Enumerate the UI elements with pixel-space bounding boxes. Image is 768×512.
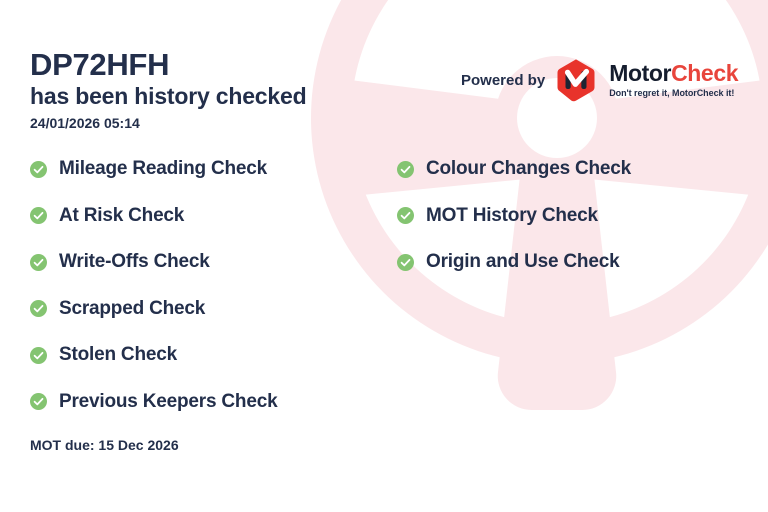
powered-by-lockup: Powered by MotorCheck Don't regret it, M…	[461, 58, 738, 102]
motorcheck-hexagon-m-check-icon	[555, 58, 597, 102]
green-check-circle-icon	[30, 300, 47, 317]
green-check-circle-icon	[397, 161, 414, 178]
check-timestamp: 24/01/2026 05:14	[30, 115, 306, 131]
green-check-circle-icon	[397, 254, 414, 271]
check-label: MOT History Check	[426, 205, 598, 227]
brand-wordmark: MotorCheck	[609, 62, 738, 85]
check-label: At Risk Check	[59, 205, 184, 227]
report-header: DP72HFH has been history checked 24/01/2…	[30, 48, 306, 131]
green-check-circle-icon	[30, 161, 47, 178]
check-item: Write-Offs Check	[30, 248, 277, 276]
brand-tagline: Don't regret it, MotorCheck it!	[609, 88, 738, 98]
check-label: Stolen Check	[59, 344, 177, 366]
check-label: Write-Offs Check	[59, 251, 210, 273]
check-item: At Risk Check	[30, 202, 277, 230]
check-item: Mileage Reading Check	[30, 155, 277, 183]
history-checked-status: has been history checked	[30, 83, 306, 109]
check-label: Mileage Reading Check	[59, 158, 267, 180]
green-check-circle-icon	[30, 254, 47, 271]
check-item: Previous Keepers Check	[30, 388, 277, 416]
check-list-left: Mileage Reading Check At Risk Check Writ…	[30, 155, 277, 434]
brand-wordmark-group: MotorCheck Don't regret it, MotorCheck i…	[609, 62, 738, 98]
check-list-right: Colour Changes Check MOT History Check O…	[397, 155, 631, 295]
check-item: Colour Changes Check	[397, 155, 631, 183]
green-check-circle-icon	[30, 207, 47, 224]
check-label: Origin and Use Check	[426, 251, 619, 273]
vehicle-registration: DP72HFH	[30, 48, 306, 81]
check-item: MOT History Check	[397, 202, 631, 230]
check-item: Stolen Check	[30, 341, 277, 369]
green-check-circle-icon	[397, 207, 414, 224]
check-item: Origin and Use Check	[397, 248, 631, 276]
report-summary-card: DP72HFH has been history checked 24/01/2…	[0, 0, 768, 512]
check-label: Scrapped Check	[59, 298, 205, 320]
check-label: Colour Changes Check	[426, 158, 631, 180]
check-item: Scrapped Check	[30, 295, 277, 323]
green-check-circle-icon	[30, 393, 47, 410]
check-label: Previous Keepers Check	[59, 391, 277, 413]
green-check-circle-icon	[30, 347, 47, 364]
brand-word-check: Check	[671, 60, 738, 86]
mot-due-text: MOT due: 15 Dec 2026	[30, 437, 179, 453]
powered-by-label: Powered by	[461, 72, 545, 89]
brand-word-motor: Motor	[609, 60, 671, 86]
